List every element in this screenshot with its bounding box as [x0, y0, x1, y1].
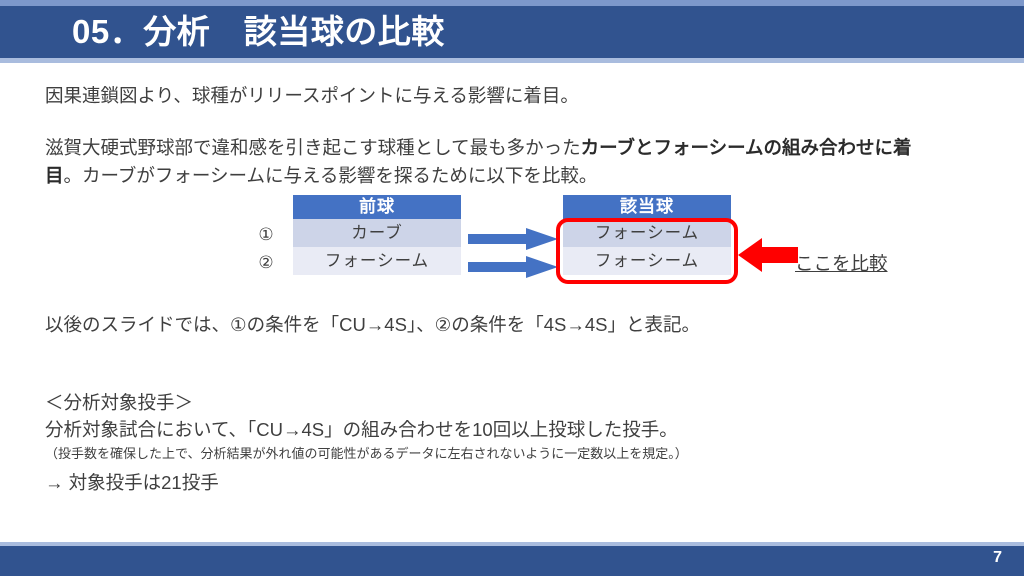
target-pitchers-block: ＜分析対象投手＞ 分析対象試合において、「CU→4S」の組み合わせを10回以上投…	[45, 389, 975, 498]
row-number-1: ①	[253, 225, 279, 245]
slide-root: { "header": { "title": "05．分析 該当球の比較", "…	[0, 0, 1024, 576]
comparison-highlight-box	[556, 218, 738, 284]
notation-paragraph: 以後のスライドでは、①の条件を「CU→4S」、②の条件を「4S→4S」と表記。	[45, 311, 700, 339]
page-number: 7	[993, 549, 1002, 567]
callout-arrow-left-icon	[738, 238, 798, 272]
comparison-annotation-label: ここを比較	[795, 250, 888, 276]
footer-bar	[0, 546, 1024, 576]
target-pitchers-heading: ＜分析対象投手＞	[45, 389, 975, 416]
target-pitchers-criteria: 分析対象試合において、「CU→4S」の組み合わせを10回以上投球した投手。	[45, 416, 975, 443]
target-pitchers-result: → 対象投手は21投手	[45, 468, 975, 498]
row-number-2: ②	[253, 253, 279, 273]
page-title: 05．分析 該当球の比較	[72, 9, 445, 55]
comparison-diagram: ① ② 前球 カーブ フォーシーム 該当球 フォーシーム フォーシーム	[0, 190, 1024, 300]
focus-paragraph-pre: 滋賀大硬式野球部で違和感を引き起こす球種として最も多かった	[45, 137, 581, 158]
target-pitch-header: 該当球	[563, 195, 731, 219]
previous-pitch-cell-2: フォーシーム	[293, 247, 461, 275]
focus-paragraph: 滋賀大硬式野球部で違和感を引き起こす球種として最も多かったカーブとフォーシームの…	[45, 134, 925, 190]
flow-arrow-right-1	[468, 228, 558, 250]
previous-pitch-table: 前球 カーブ フォーシーム	[293, 195, 461, 275]
flow-arrow-right-2	[468, 256, 558, 278]
focus-paragraph-post: 。カーブがフォーシームに与える影響を探るために以下を比較。	[64, 165, 598, 186]
previous-pitch-header: 前球	[293, 195, 461, 219]
intro-paragraph: 因果連鎖図より、球種がリリースポイントに与える影響に着目。	[45, 82, 579, 110]
previous-pitch-cell-1: カーブ	[293, 219, 461, 247]
target-pitchers-note: （投手数を確保した上で、分析結果が外れ値の可能性があるデータに左右されないように…	[45, 443, 975, 465]
header-underline-strip	[0, 58, 1024, 63]
